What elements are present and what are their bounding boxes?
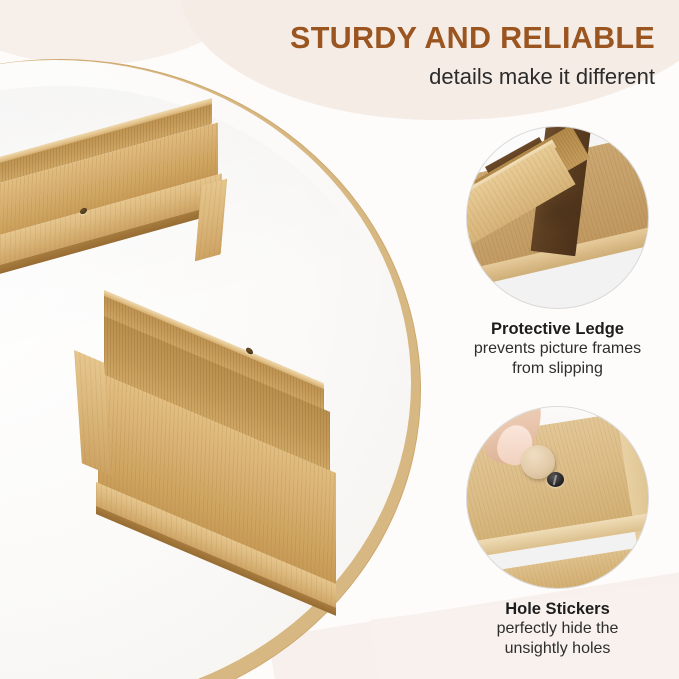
feature-body-line-1: prevents picture frames: [455, 340, 660, 359]
page-title: STURDY AND RELIABLE: [265, 22, 655, 54]
feature-protective-ledge: Protective Ledge prevents picture frames…: [455, 126, 660, 379]
feature-title: Hole Stickers: [455, 600, 660, 619]
feature-title: Protective Ledge: [455, 320, 660, 339]
protective-ledge-photo: [466, 126, 649, 309]
feature-body-line-2: from slipping: [455, 360, 660, 379]
hole-sticker-photo: [466, 406, 649, 589]
page-subtitle: details make it different: [265, 64, 655, 89]
shelf-lower: [78, 290, 418, 590]
feature-hole-stickers: Hole Stickers perfectly hide the unsight…: [455, 406, 660, 659]
header-block: STURDY AND RELIABLE details make it diff…: [265, 22, 655, 89]
infographic-canvas: STURDY AND RELIABLE details make it diff…: [0, 0, 679, 679]
feature-body-line-1: perfectly hide the: [455, 620, 660, 639]
feature-body-line-2: unsightly holes: [455, 640, 660, 659]
